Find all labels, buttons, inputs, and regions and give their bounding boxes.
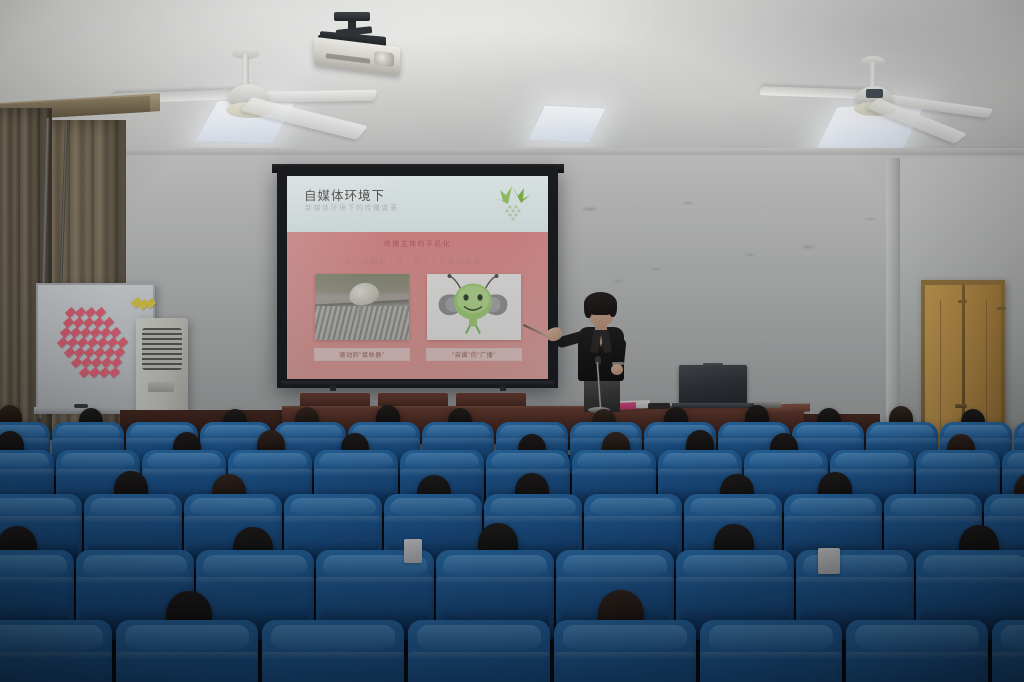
door-hinge [997,307,1006,310]
audience-seat[interactable] [116,620,258,682]
presenter-hair [584,292,617,315]
fan-badge [866,89,883,98]
lecture-hall-scene: 自媒体环境下 新媒体环境下的传播变革 [0,0,1024,682]
presenter-speaker [540,292,660,417]
seat-seam [700,652,842,659]
door-hinge [958,300,967,303]
slide-subtitle: 新媒体环境下的传播变革 [305,203,399,213]
seat-seam [992,652,1024,659]
seat-seam [784,516,882,523]
audience-seat[interactable] [700,620,842,682]
wall-pillar [886,158,900,448]
wall-marks [560,185,940,305]
screen-bottom-bar [281,381,555,387]
sticky-note [117,337,128,348]
projection-screen: 自媒体环境下 新媒体环境下的传播变革 [287,176,548,379]
seat-seam [400,469,484,476]
audience-notebook [404,539,422,563]
seat-seam [384,516,482,523]
seat-seam [184,516,282,523]
seat-seam [984,516,1024,523]
fan-rod [242,54,249,88]
sticky-note [108,367,119,378]
slide-header: 自媒体环境下 新媒体环境下的传播变革 [287,176,548,234]
seat-seam [142,469,226,476]
audience-seat[interactable] [846,620,988,682]
seat-seam [84,516,182,523]
seat-seam [1002,469,1024,476]
seat-seam [0,577,74,584]
seat-seam [0,652,112,659]
fan-blade [240,97,368,140]
seat-seam [792,438,864,445]
seat-seam [76,577,194,584]
seat-seam [584,516,682,523]
presentation-slide: 自媒体环境下 新媒体环境下的传播变革 [287,176,548,379]
audience-seating [0,408,1024,682]
seat-seam [262,652,404,659]
seat-seam [572,469,656,476]
sticky-note [110,327,121,338]
seat-seam [422,438,494,445]
sticky-note [102,317,113,328]
green-bug-mascot-icon [431,274,517,340]
presenter-left-hand [611,364,623,375]
seat-seam [676,577,794,584]
seat-seam [916,469,1000,476]
seat-seam [796,577,914,584]
sticky-note [145,298,156,309]
seat-seam [846,652,988,659]
seat-seam [884,516,982,523]
slide-panel-subheading: 每个人都是主体，每个人也是接收者。 [287,256,548,267]
satellite-dish-photo [315,274,409,340]
seat-seam [1014,438,1024,445]
seat-seam [0,469,54,476]
air-conditioner-grille [142,328,182,370]
sticky-note [111,357,122,368]
seat-seam [284,516,382,523]
seat-seam [408,652,550,659]
seat-seam [196,577,314,584]
seat-seam [554,652,696,659]
audience-seat[interactable] [992,620,1024,682]
audience-notebook [818,548,840,574]
projector-lens [374,51,394,67]
seat-seam [52,438,124,445]
green-bug-mascot-photo [427,274,521,340]
audience-seat[interactable] [408,620,550,682]
air-conditioner-control-panel[interactable] [148,382,174,392]
seat-seam [316,577,434,584]
seat-seam [436,577,554,584]
screen-roller [500,386,506,391]
ceiling-fan-right-icon [826,50,1024,150]
green-sprout-logo-icon [490,182,534,226]
seat-seam [684,516,782,523]
sticky-note [114,347,125,358]
slide-content-panel: 传播主体的平民化 每个人都是主体，每个人也是接收者。 [287,232,548,379]
projector-icon [312,12,404,72]
slide-panel-heading: 传播主体的平民化 [287,239,548,249]
seat-seam [744,469,828,476]
screen-roller [330,386,336,391]
audience-seat[interactable] [554,620,696,682]
audience-seat[interactable] [262,620,404,682]
seat-seam [916,577,1024,584]
roof-tiles [315,306,409,340]
seat-seam [228,469,312,476]
slide-title: 自媒体环境下 [304,185,385,204]
audience-seat[interactable] [0,620,112,682]
presenter-laptop[interactable] [679,365,747,405]
slide-caption-right: "自媒"的"广播" [426,348,522,361]
seat-seam [556,577,674,584]
sticky-note [95,307,106,318]
seat-seam [0,516,82,523]
seat-seam [314,469,398,476]
seat-seam [866,438,938,445]
slide-caption-left: 被动的"接收器" [314,348,410,361]
seat-seam [116,652,258,659]
